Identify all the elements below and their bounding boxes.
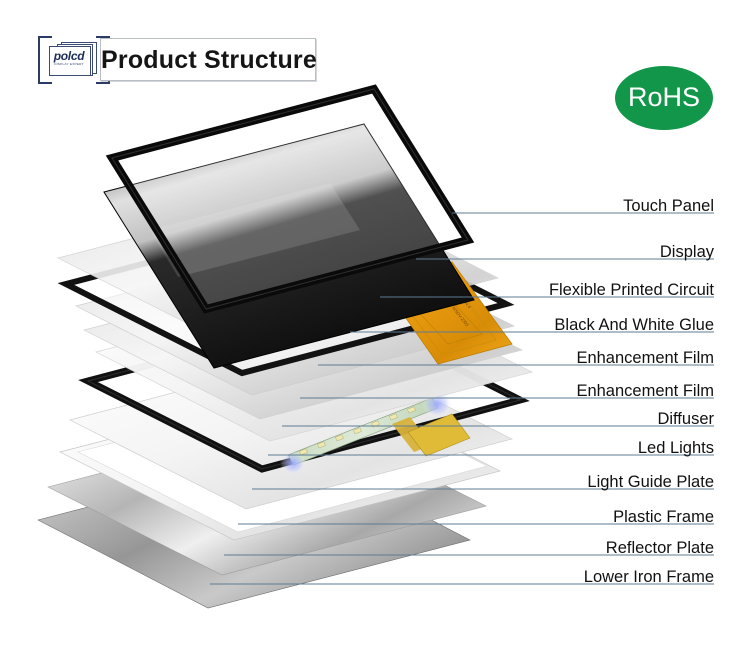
label-flexible-printed-circuit: Flexible Printed Circuit — [549, 280, 714, 300]
label-plastic-frame: Plastic Frame — [613, 507, 714, 527]
label-diffuser: Diffuser — [657, 409, 714, 429]
label-touch-panel: Touch Panel — [623, 196, 714, 216]
label-reflector-plate: Reflector Plate — [606, 538, 714, 558]
label-lower-iron-frame: Lower Iron Frame — [584, 567, 714, 587]
label-enhancement-film-2: Enhancement Film — [576, 381, 714, 401]
product-structure-diagram: polcd DISPLAY EXPERT Product Structure R… — [0, 0, 750, 668]
label-black-and-white-glue: Black And White Glue — [554, 315, 714, 335]
label-enhancement-film-1: Enhancement Film — [576, 348, 714, 368]
label-display: Display — [660, 242, 714, 262]
label-led-lights: Led Lights — [638, 438, 714, 458]
label-light-guide-plate: Light Guide Plate — [587, 472, 714, 492]
